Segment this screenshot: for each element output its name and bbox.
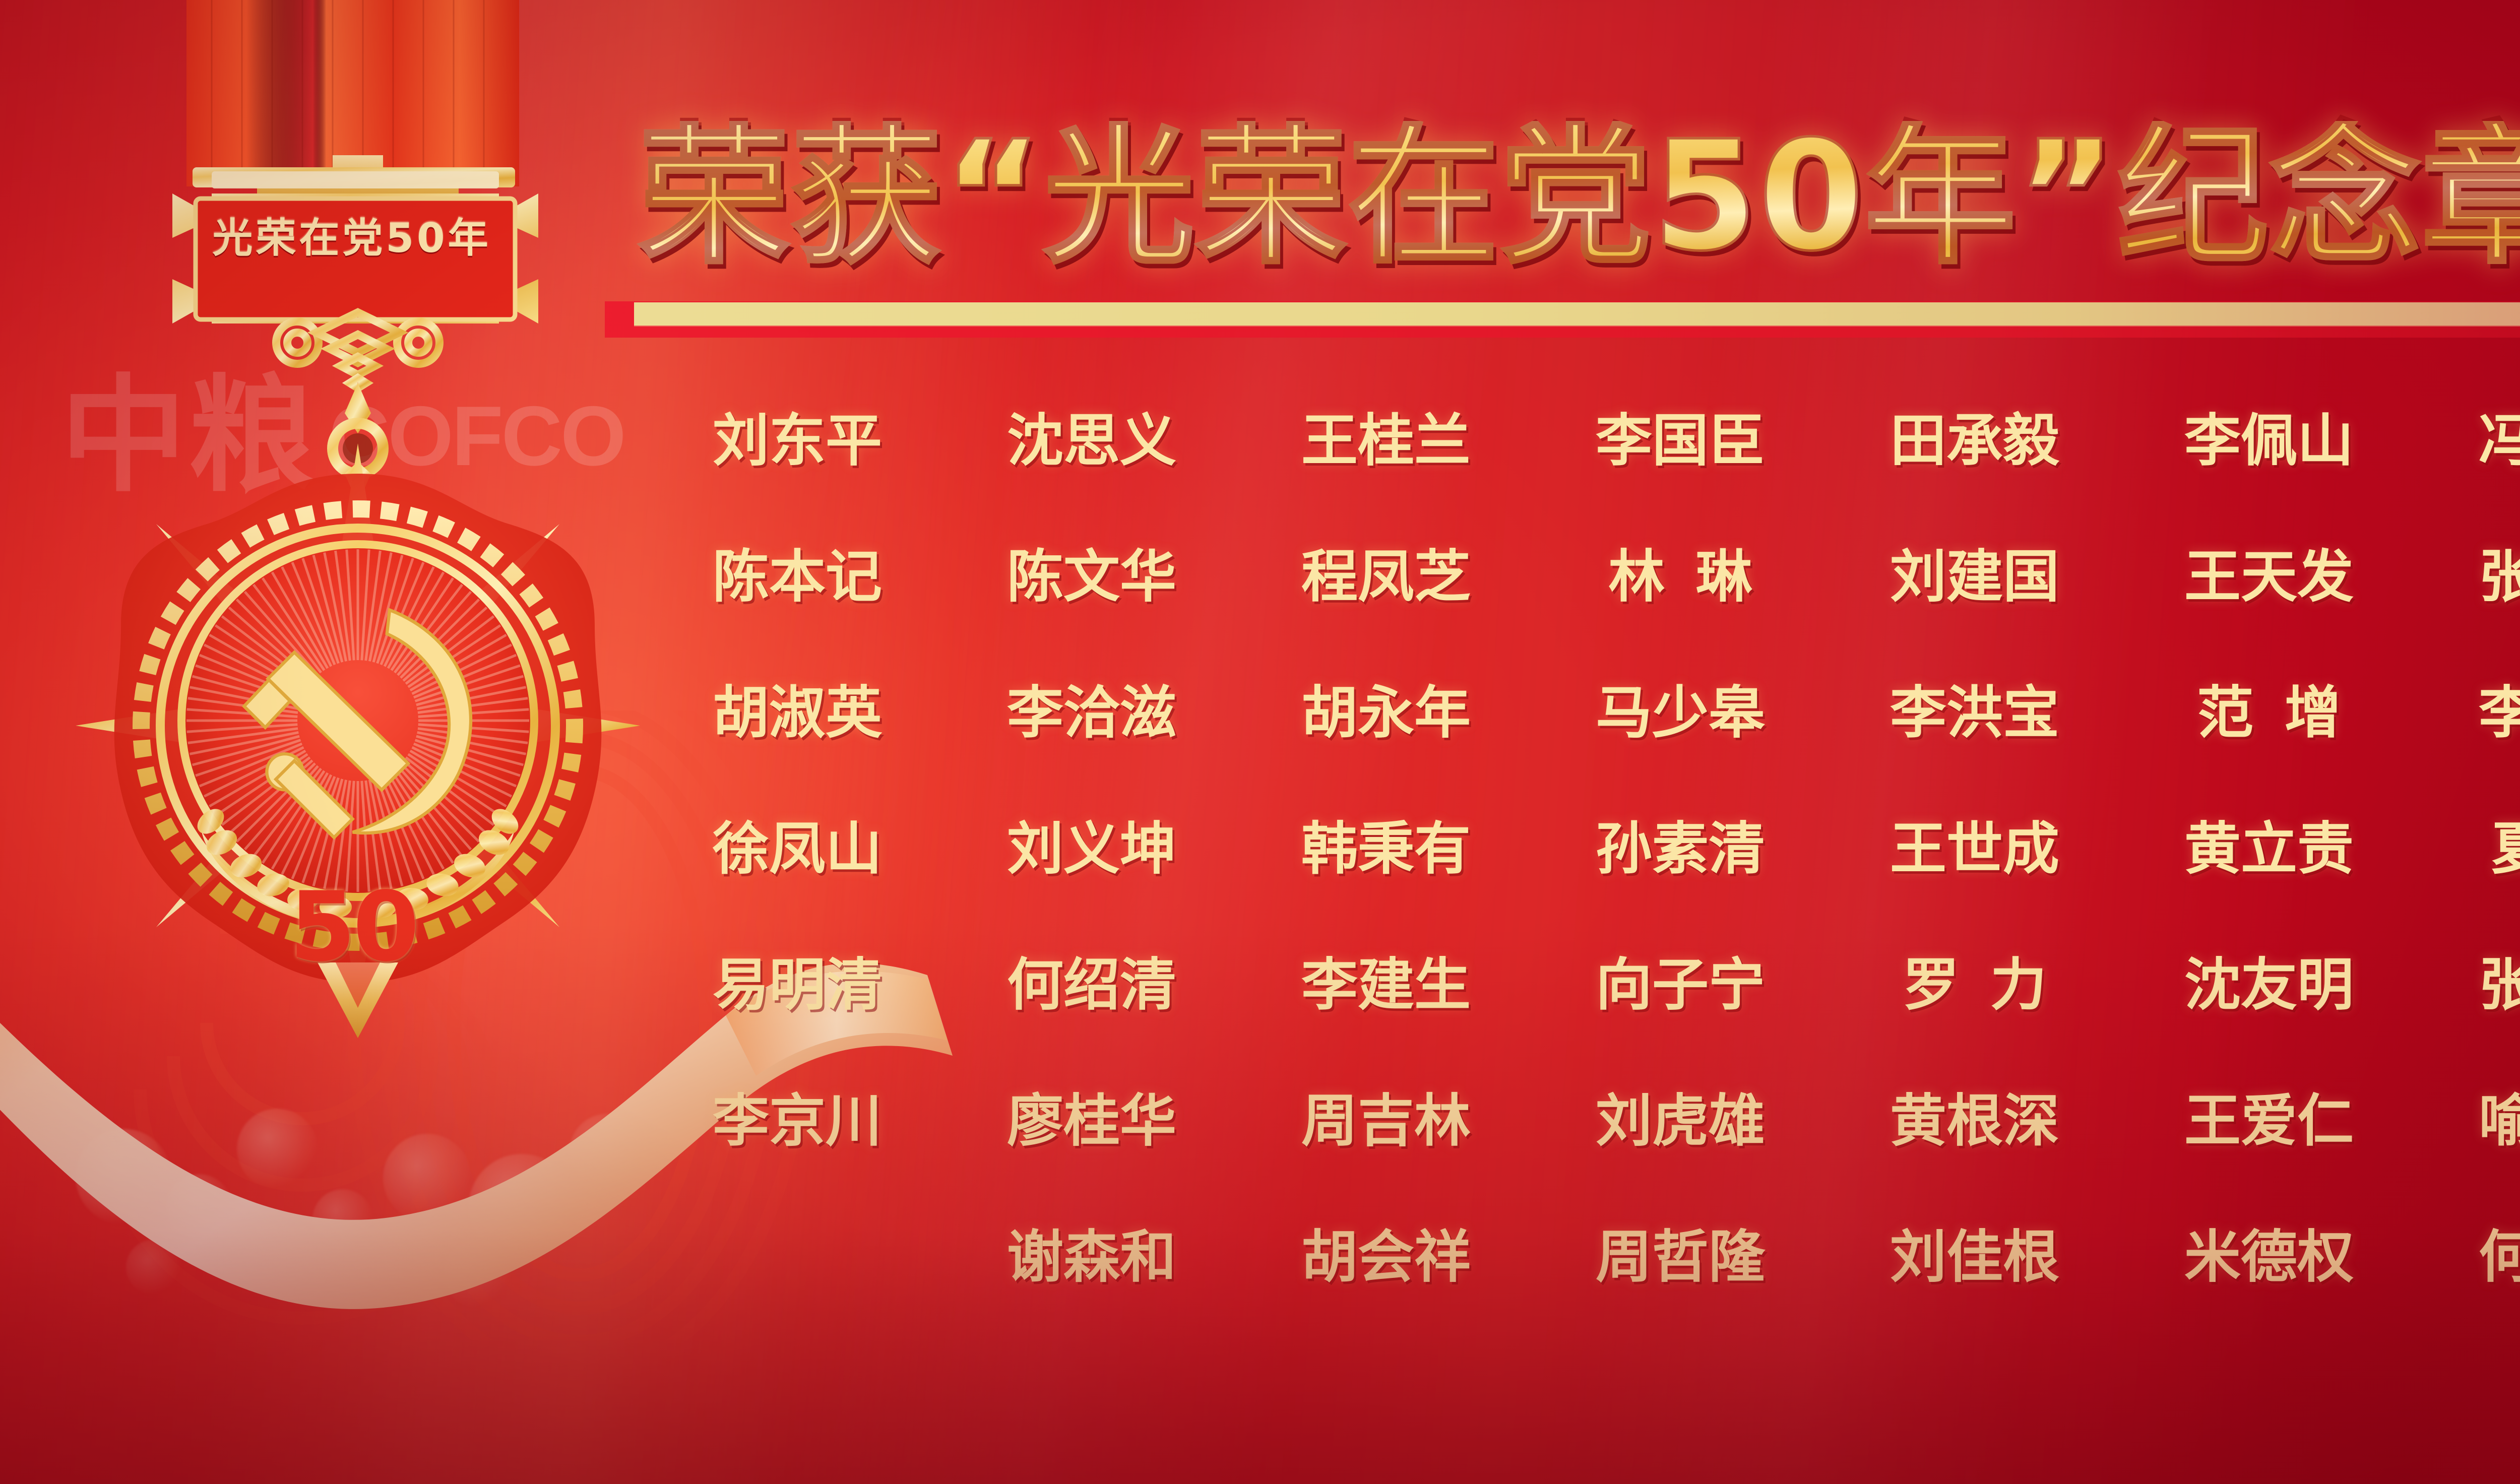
- honoree-name: 易明清: [713, 957, 882, 1013]
- honoree-name: 黄立责: [2184, 821, 2354, 877]
- bokeh-light: [76, 1129, 171, 1224]
- honoree-name: 张望保: [2479, 957, 2520, 1013]
- honoree-name: 李建生: [1301, 957, 1471, 1013]
- divider-gold-bar: [634, 302, 2520, 326]
- honoree-name: 罗力: [1872, 957, 2078, 1013]
- honoree-name: 孙素清: [1596, 821, 1765, 877]
- honoree-name: 王世成: [1890, 821, 2059, 877]
- medal-center-number-text: 50: [289, 879, 416, 975]
- honoree-name: 王桂兰: [1301, 413, 1471, 469]
- honoree-name: 沈思义: [1007, 413, 1176, 469]
- medal-ribbon-bar-text: 光荣在党50年: [212, 218, 491, 259]
- honoree-name: 刘义坤: [1007, 821, 1176, 877]
- honoree-name: 张宝贵: [2479, 549, 2520, 605]
- cofco-watermark: 中粮 COFCO: [60, 353, 665, 519]
- honoree-name: 刘虎雄: [1596, 1093, 1765, 1149]
- honoree-name: 李京川: [713, 1093, 882, 1149]
- title-divider: [605, 292, 2520, 348]
- honoree-name: 何绍清: [1007, 957, 1176, 1013]
- party-50-year-medal: 光荣在党50年 50: [60, 0, 655, 1088]
- honor-roll-poster: 中粮 COFCO: [0, 0, 2520, 1484]
- bokeh-light: [166, 1174, 232, 1240]
- honoree-name-grid: 刘东平沈思义王桂兰李国臣田承毅李佩山冯怀民韩凤祥龚长林郝晋文陈本记陈文华程凤芝林…: [650, 373, 2520, 1396]
- bokeh-light: [237, 1109, 318, 1189]
- honoree-name: 王天发: [2184, 549, 2354, 605]
- honoree-name: 廖桂华: [1007, 1093, 1176, 1149]
- honoree-name: 胡淑英: [713, 685, 882, 741]
- honoree-name: 王爱仁: [2184, 1093, 2354, 1149]
- medal-center-number: 50: [270, 869, 436, 985]
- medal-ribbon-bar: 光荣在党50年: [196, 201, 508, 276]
- honoree-name: 陈本记: [713, 549, 882, 605]
- honoree-name: 李国臣: [1596, 413, 1765, 469]
- honoree-name: 何贵保: [2479, 1229, 2520, 1285]
- bokeh-light: [469, 1154, 575, 1260]
- honoree-name: 胡会祥: [1301, 1229, 1471, 1285]
- honoree-name: 李洪宝: [1890, 685, 2059, 741]
- honoree-name: 范增: [2166, 685, 2372, 741]
- honoree-name: 米德权: [2184, 1229, 2354, 1285]
- honoree-name: 陈文华: [1007, 549, 1176, 605]
- honoree-name: 喻定均: [2479, 1093, 2520, 1149]
- honoree-name: 李洽滋: [1007, 685, 1176, 741]
- cofco-watermark-english: COFCO: [329, 394, 624, 478]
- honoree-name: 李佩山: [2184, 413, 2354, 469]
- honoree-name: 徐凤山: [713, 821, 882, 877]
- honoree-name: 刘佳根: [1890, 1229, 2059, 1285]
- page-title: 荣获“光荣在党50年”纪念章的 404 名老党员: [633, 78, 2520, 315]
- honoree-name: 胡永年: [1301, 685, 1471, 741]
- bokeh-light: [570, 1114, 645, 1189]
- bokeh-light: [444, 1240, 512, 1308]
- page-title-text: 荣获“光荣在党50年”纪念章的 404 名老党员: [633, 121, 2520, 272]
- honoree-name: 林琳: [1578, 549, 1784, 605]
- bokeh-light: [383, 1134, 471, 1222]
- honoree-name: 向子宁: [1596, 957, 1765, 1013]
- honoree-name: 黄根深: [1890, 1093, 2059, 1149]
- honoree-name: 韩秉有: [1301, 821, 1471, 877]
- honoree-name: 沈友明: [2184, 957, 2354, 1013]
- honoree-name: 刘东平: [713, 413, 882, 469]
- bokeh-light: [126, 1240, 181, 1295]
- honoree-name: 冯怀民: [2479, 413, 2520, 469]
- bokeh-light: [312, 1189, 373, 1250]
- cofco-watermark-chinese: 中粮: [60, 373, 317, 499]
- honoree-name: 田承毅: [1890, 413, 2059, 469]
- honoree-name: 马少皋: [1596, 685, 1765, 741]
- honoree-name: 周哲隆: [1596, 1229, 1765, 1285]
- honoree-name: 周吉林: [1301, 1093, 1471, 1149]
- honoree-name: 程凤芝: [1301, 549, 1471, 605]
- honoree-name: 刘建国: [1890, 549, 2059, 605]
- honoree-name: 李振芳: [2479, 685, 2520, 741]
- honoree-name: 夏忠: [2461, 821, 2520, 877]
- honoree-name: 谢森和: [1007, 1229, 1176, 1285]
